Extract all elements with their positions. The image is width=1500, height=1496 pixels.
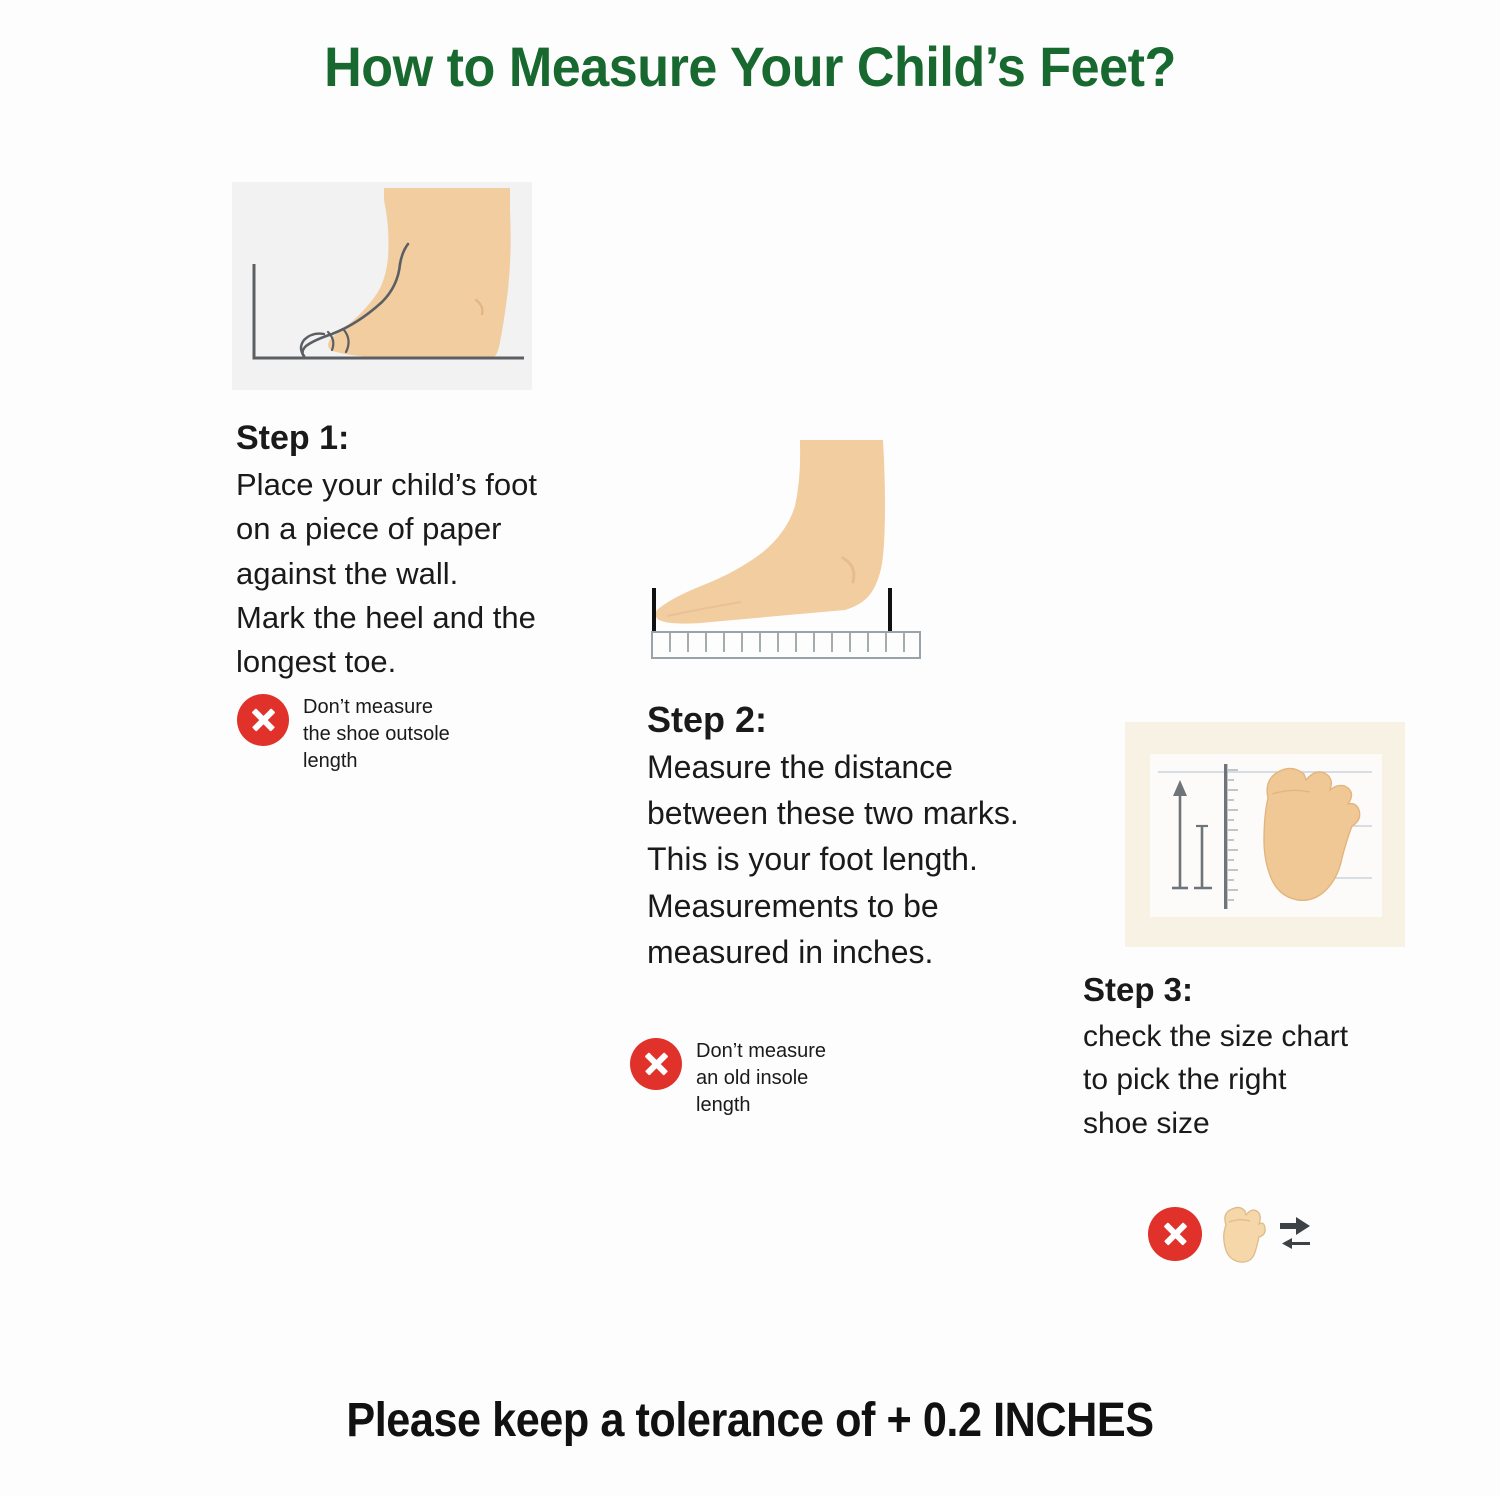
step-1-text: Step 1: Place your child’s foot on a pie… [236,419,566,685]
step-1-warning-line-1: Don’t measure [303,694,450,721]
foot-sole-shape [1264,768,1360,900]
measure-arrow-short [1194,826,1212,888]
arrow-left-icon [1282,1238,1310,1249]
step-2-body: Measure the distance between these two m… [647,744,1087,974]
step-3-body-line-2: to pick the right [1083,1058,1423,1102]
foot-on-ruler-illustration [645,430,935,670]
measure-guide-page: How to Measure Your Child’s Feet? Step 1… [0,0,1500,1496]
red-x-circle-icon [1148,1207,1202,1261]
step-2-warning-line-2: an old insole [696,1065,826,1092]
step-1-warning-text: Don’t measure the shoe outsole length [303,694,450,776]
step-1-warning-line-3: length [303,748,450,775]
step-2-text: Step 2: Measure the distance between the… [647,700,1087,975]
red-x-circle-icon [630,1038,682,1090]
step-3-text: Step 3: check the size chart to pick the… [1083,972,1423,1145]
step-2-body-line-5: measured in inches. [647,929,1087,975]
step-2-heading: Step 2: [647,700,1087,740]
foot-sole-icon [1214,1203,1266,1265]
step-1-heading: Step 1: [236,419,566,457]
step-2-body-line-2: between these two marks. [647,790,1087,836]
step-1-body-line-3: against the wall. [236,552,566,596]
step-3-warning [1148,1203,1312,1265]
heel-mark [652,588,656,632]
step-1-body: Place your child’s foot on a piece of pa… [236,463,566,685]
step-1-figure [232,182,532,390]
step-3-body: check the size chart to pick the right s… [1083,1015,1423,1146]
step-3-body-line-3: shoe size [1083,1102,1423,1146]
width-arrows-icon [1278,1211,1312,1257]
arrow-right-icon [1280,1217,1310,1235]
tolerance-note: Please keep a tolerance of + 0.2 INCHES [75,1393,1425,1448]
page-title: How to Measure Your Child’s Feet? [53,34,1448,99]
step-1-warning-line-2: the shoe outsole [303,721,450,748]
step-2-body-line-3: This is your foot length. [647,836,1087,882]
step-3-heading: Step 3: [1083,972,1423,1009]
red-x-circle-icon [237,694,289,746]
step-2-warning-text: Don’t measure an old insole length [696,1038,826,1120]
step-2-warning-line-1: Don’t measure [696,1038,826,1065]
step-1-body-line-4: Mark the heel and the [236,596,566,640]
toe-mark [888,588,892,632]
step-1-warning: Don’t measure the shoe outsole length [237,694,537,776]
step-2-figure [645,430,935,670]
step-3-inner-card [1150,754,1382,917]
step-3-figure [1125,722,1405,947]
step-1-body-line-2: on a piece of paper [236,507,566,551]
step-2-body-line-4: Measurements to be [647,883,1087,929]
step-2-body-line-1: Measure the distance [647,744,1087,790]
step-1-body-line-1: Place your child’s foot [236,463,566,507]
foot-against-wall-illustration [232,182,532,390]
step-1-body-line-5: longest toe. [236,640,566,684]
step-2-warning: Don’t measure an old insole length [630,1038,930,1120]
step-2-warning-line-3: length [696,1092,826,1119]
foot-sole-on-scale-illustration [1150,754,1382,917]
measure-arrow-tall [1172,780,1188,888]
step-3-body-line-1: check the size chart [1083,1015,1423,1059]
